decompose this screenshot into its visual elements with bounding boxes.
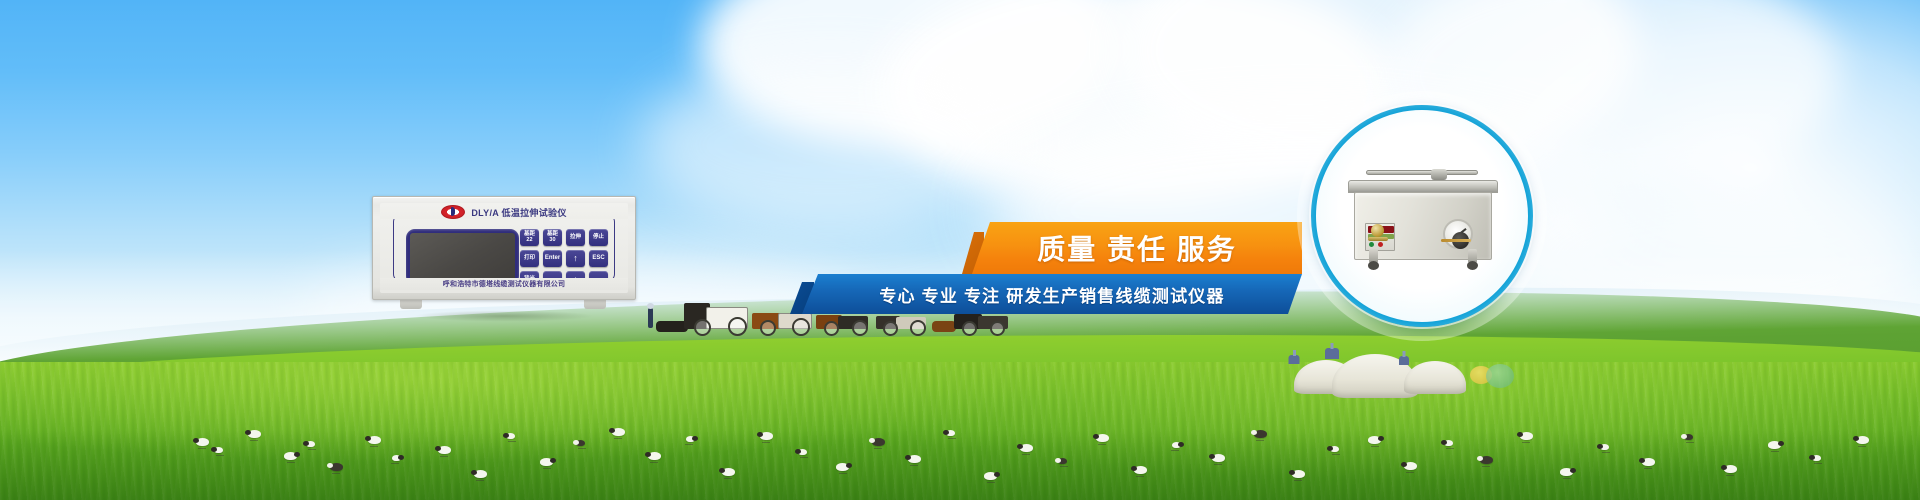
ox-cart: [684, 300, 748, 336]
product-circle-ring: [1311, 105, 1533, 327]
key-print[interactable]: 打印: [520, 250, 539, 267]
key-stretch[interactable]: 拉伸: [566, 229, 585, 246]
instrument-company-name: 呼和浩特市德塔线缆测试仪器有限公司: [443, 279, 565, 289]
chamber-body: [1354, 192, 1492, 260]
product-circle: [1311, 105, 1533, 327]
instrument-company-row: 呼和浩特市德塔线缆测试仪器有限公司: [380, 278, 628, 290]
chamber-brass-knob: [1371, 224, 1384, 237]
key-stop[interactable]: 停止: [589, 229, 608, 246]
instrument-lcd-bezel: [406, 229, 519, 285]
chamber-buttons: [1369, 242, 1383, 247]
key-enter[interactable]: Enter: [543, 250, 562, 267]
slogan-secondary-text: 专心 专业 专注 研发生产销售线缆测试仪器: [879, 282, 1224, 307]
grass-shadow: [0, 430, 1920, 500]
chamber-handle-knob: [1431, 169, 1447, 180]
hero-banner: DLY/A 低温拉伸试验仪 基距 22 基距 30 拉伸 停止 打印 Enter…: [0, 0, 1920, 500]
chamber-caster-right: [1467, 261, 1478, 270]
slogan-ribbon-primary: 质量 责任 服务: [972, 222, 1302, 274]
instrument-model-title: DLY/A 低温拉伸试验仪: [471, 206, 566, 219]
key-gauge-22[interactable]: 基距 22: [520, 229, 539, 246]
chamber-caster-left: [1368, 261, 1379, 270]
instrument-front-panel: DLY/A 低温拉伸试验仪 基距 22 基距 30 拉伸 停止 打印 Enter…: [380, 203, 628, 293]
mongolian-yurts: [1294, 332, 1494, 402]
chamber-lid-handle-bar: [1366, 170, 1478, 175]
key-arrow-up[interactable]: ↑: [566, 250, 585, 267]
chamber-button-red: [1378, 242, 1383, 247]
slogan-ribbon-secondary: 专心 专业 专注 研发生产销售线缆测试仪器: [802, 274, 1302, 314]
test-chamber-product: [1348, 168, 1498, 276]
instrument-title-row: DLY/A 低温拉伸试验仪: [380, 205, 628, 219]
delta-d-logo-icon: [441, 205, 465, 219]
tensile-tester-instrument: DLY/A 低温拉伸试验仪 基距 22 基距 30 拉伸 停止 打印 Enter…: [372, 196, 634, 314]
key-esc[interactable]: ESC: [589, 250, 608, 267]
cloud-shape: [640, 60, 1020, 230]
key-gauge-30[interactable]: 基距 30: [543, 229, 562, 246]
instrument-lcd-screen: [410, 233, 515, 281]
instrument-case: DLY/A 低温拉伸试验仪 基距 22 基距 30 拉伸 停止 打印 Enter…: [372, 196, 636, 300]
slogan-primary-text: 质量 责任 服务: [1037, 228, 1237, 268]
chamber-valve-knob: [1452, 232, 1469, 249]
chamber-button-green: [1369, 242, 1374, 247]
